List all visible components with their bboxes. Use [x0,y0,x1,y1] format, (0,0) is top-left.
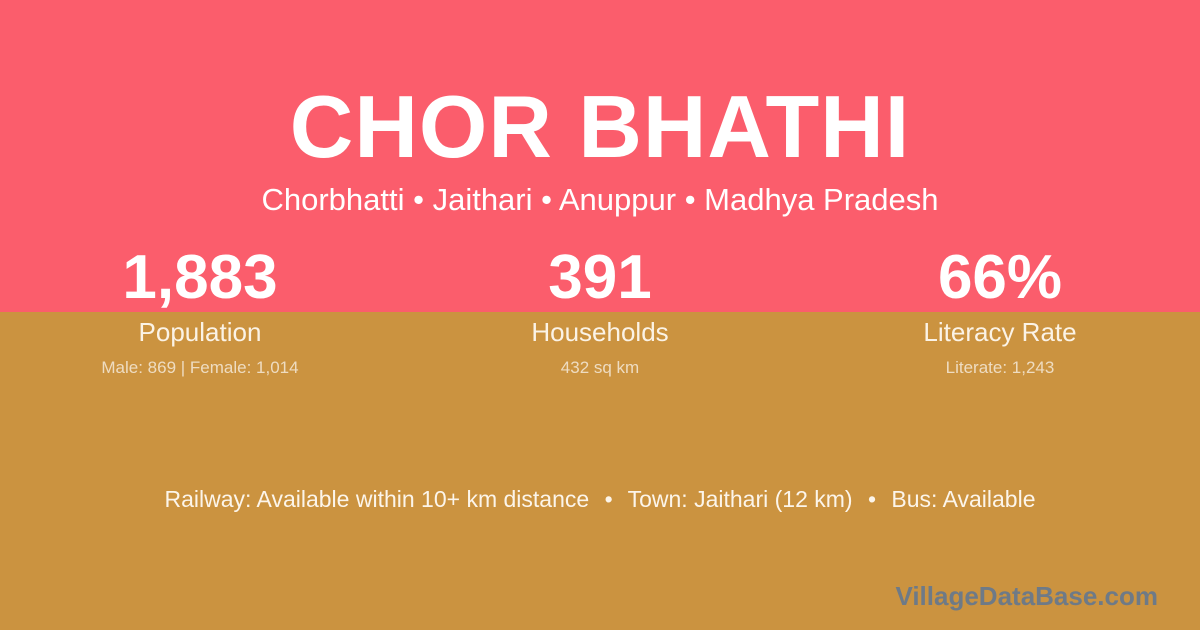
stat-sub-text: 432 sq km [400,357,800,379]
stat-sub-text: Male: 869 | Female: 1,014 [0,357,400,379]
facility-railway: Railway: Available within 10+ km distanc… [165,486,590,512]
stat-value: 391 [400,244,800,312]
stat-label: Population [0,316,400,348]
breadcrumb: Chorbhatti • Jaithari • Anuppur • Madhya… [0,181,1200,219]
village-info-card: CHOR BHATHI Chorbhatti • Jaithari • Anup… [0,0,1200,630]
card-content: CHOR BHATHI Chorbhatti • Jaithari • Anup… [0,0,1200,630]
stat-value: 1,883 [0,244,400,312]
facility-separator: • [596,484,622,514]
site-branding: VillageDataBase.com [895,581,1158,611]
facility-town: Town: Jaithari (12 km) [628,486,853,512]
stat-label: Households [400,316,800,348]
stat-households: 391 Households 432 sq km [400,244,800,379]
facilities-line: Railway: Available within 10+ km distanc… [0,484,1200,514]
stat-sub-text: Literate: 1,243 [800,357,1200,379]
stat-literacy-rate: 66% Literacy Rate Literate: 1,243 [800,244,1200,379]
stats-row: 1,883 Population Male: 869 | Female: 1,0… [0,244,1200,379]
stat-value: 66% [800,244,1200,312]
page-title: CHOR BHATHI [0,78,1200,176]
facility-separator: • [859,484,885,514]
stat-label: Literacy Rate [800,316,1200,348]
facility-bus: Bus: Available [891,486,1035,512]
stat-population: 1,883 Population Male: 869 | Female: 1,0… [0,244,400,379]
